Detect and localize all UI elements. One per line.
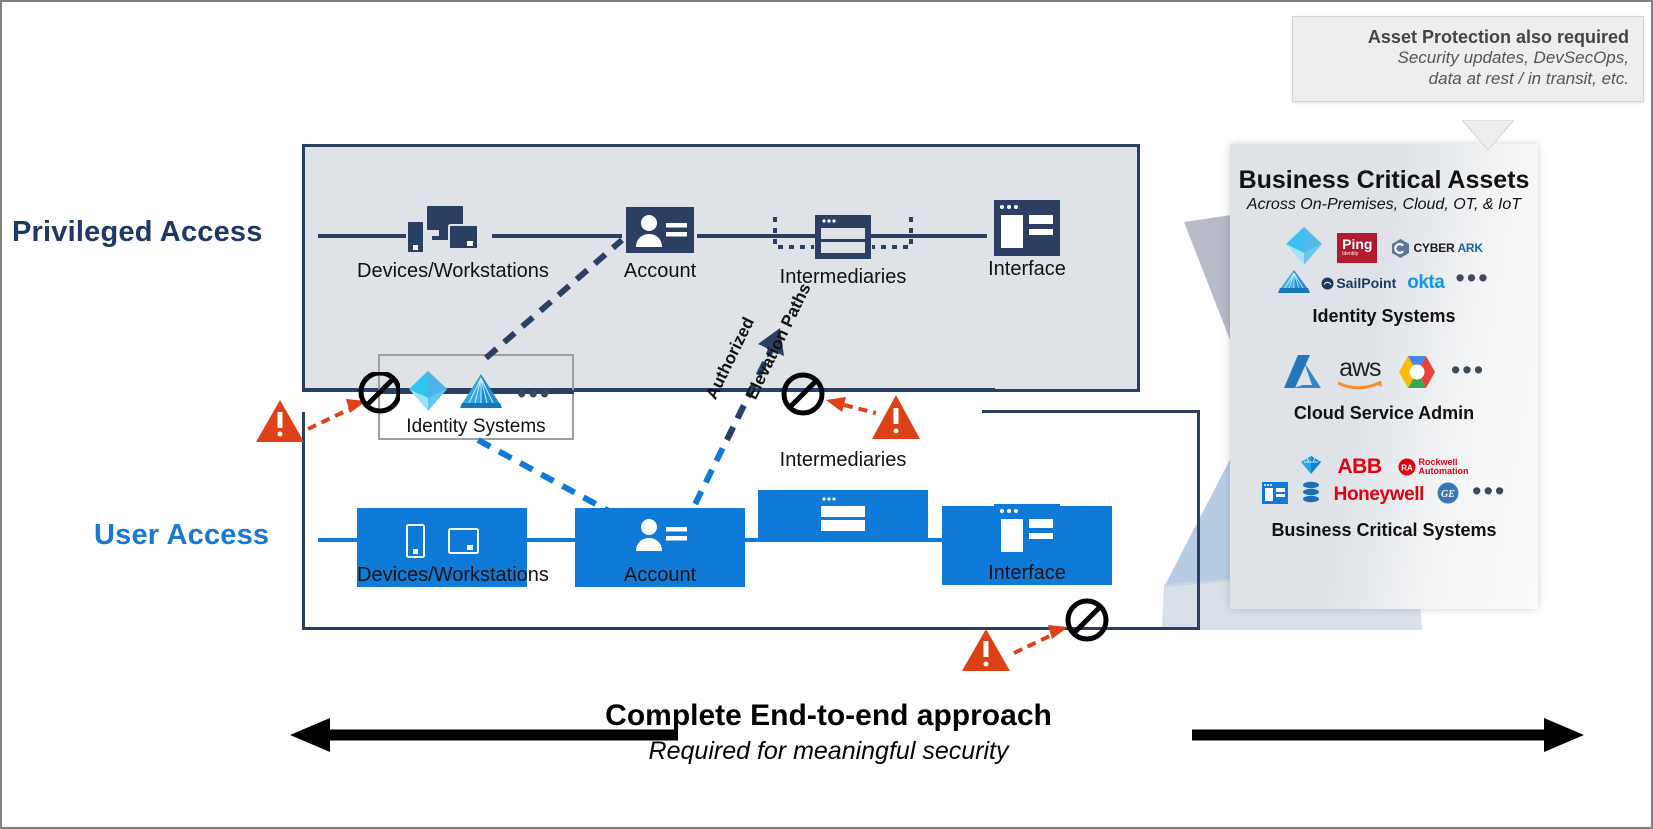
honeywell-logo: Honeywell: [1334, 484, 1424, 506]
left-arrow-icon: [290, 717, 680, 753]
identity-ellipsis: •••: [517, 386, 551, 402]
siemens-window-logo: [1262, 482, 1288, 509]
ping-identity-logo: Ping Identity: [1337, 233, 1377, 263]
business-critical-ellipsis: •••: [1472, 483, 1506, 499]
google-cloud-logo: [1397, 354, 1437, 395]
sailpoint-logo: SailPoint: [1321, 275, 1396, 291]
business-critical-assets-panel: Business Critical Assets Across On-Premi…: [1230, 144, 1538, 609]
devices-workstations-icon: [357, 508, 527, 560]
asset-group-identity-systems: Ping Identity CYBERARK: [1230, 228, 1538, 327]
user-zone-top-edge: [982, 410, 1200, 413]
node-label: Intermediaries: [758, 266, 928, 289]
cyberark-logo: CYBERARK: [1391, 239, 1482, 258]
sap-diamond-logo: [1300, 455, 1322, 480]
interface-icon: [942, 506, 1112, 558]
azure-ad-diamond-icon: [408, 370, 448, 417]
identity-to-account-path: [472, 230, 642, 365]
node-priv-interface[interactable]: Interface: [942, 202, 1112, 281]
asset-group-caption: Business Critical Systems: [1230, 520, 1538, 541]
rockwell-automation-logo: RA Rockwell Automation: [1398, 458, 1469, 476]
abb-logo: ABB: [1338, 455, 1382, 479]
callout-line-1: Security updates, DevSecOps,: [1307, 48, 1629, 69]
identity-systems-caption: Identity Systems: [378, 416, 574, 438]
identity-systems-ellipsis: •••: [1455, 270, 1489, 286]
okta-logo: okta: [1407, 272, 1444, 294]
svg-text:GE: GE: [1441, 489, 1455, 500]
node-label: Interface: [942, 258, 1112, 281]
account-icon: [575, 508, 745, 560]
asset-panel-title: Business Critical Assets: [1230, 166, 1538, 195]
asset-group-caption: Cloud Service Admin: [1230, 403, 1538, 424]
privileged-access-label: Privileged Access: [12, 216, 263, 249]
warning-marker-identity: [250, 372, 400, 457]
node-user-account[interactable]: Account: [575, 508, 745, 587]
asset-panel-subtitle: Across On-Premises, Cloud, OT, & IoT: [1230, 196, 1538, 214]
warning-marker-interface: [952, 597, 1112, 677]
interface-icon: [942, 202, 1112, 254]
asset-group-business-critical-systems: ABB RA Rockwell Automation: [1230, 454, 1538, 541]
intermediaries-icon: [758, 490, 928, 542]
oracle-db-logo: [1301, 481, 1321, 510]
user-access-label: User Access: [94, 519, 269, 552]
intermediaries-icon: [758, 212, 928, 264]
okta-pyramid-logo: [1278, 268, 1310, 299]
right-arrow-icon: [1192, 717, 1584, 753]
callout-line-2: data at rest / in transit, etc.: [1307, 69, 1629, 90]
node-label: Account: [575, 564, 745, 587]
asset-group-caption: Identity Systems: [1230, 306, 1538, 327]
svg-text:RA: RA: [1401, 464, 1413, 473]
warning-marker-intermediaries: [772, 367, 937, 457]
asset-protection-callout: Asset Protection also required Security …: [1292, 16, 1644, 102]
node-user-interface[interactable]: Interface: [942, 506, 1112, 585]
azure-logo: [1283, 353, 1323, 396]
asset-group-cloud-service-admin: aws ••• Cloud Ser: [1230, 353, 1538, 424]
azure-ad-logo: [1285, 226, 1323, 271]
node-user-devices[interactable]: Devices/Workstations: [357, 508, 527, 587]
identity-pyramid-icon: [460, 372, 502, 415]
aws-logo: aws: [1337, 357, 1383, 391]
node-label: Interface: [942, 562, 1112, 585]
ge-logo: GE: [1437, 482, 1459, 509]
callout-title: Asset Protection also required: [1307, 27, 1629, 48]
cloud-service-ellipsis: •••: [1451, 362, 1485, 378]
diagram-canvas: Privileged Access User Access Devices/Wo…: [0, 0, 1653, 829]
callout-tail: [1462, 120, 1552, 152]
node-priv-intermediaries[interactable]: Intermediaries: [758, 212, 928, 289]
node-user-intermediaries[interactable]: [758, 490, 928, 542]
node-label: Devices/Workstations: [357, 564, 527, 587]
